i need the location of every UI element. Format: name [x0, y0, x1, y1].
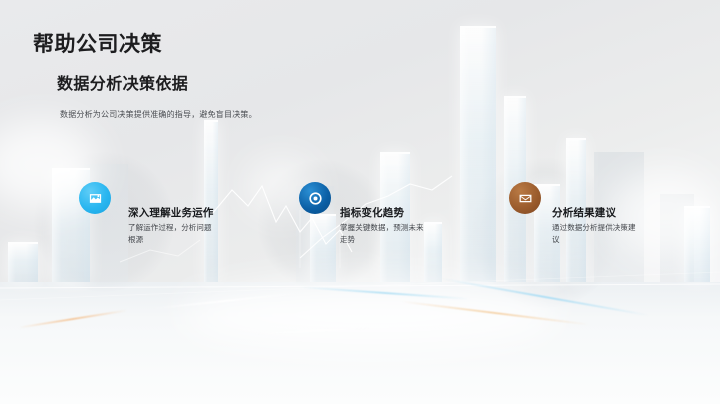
floor-streak-5	[441, 278, 648, 316]
envelope-icon[interactable]	[509, 182, 541, 214]
background-tower-6	[424, 222, 442, 282]
page-title: 帮助公司决策	[33, 28, 162, 58]
section-subtitle: 数据分析决策依据	[57, 70, 188, 94]
image-icon[interactable]	[79, 182, 111, 214]
feature-heading-3: 分析结果建议	[552, 205, 616, 220]
feature-heading-2: 指标变化趋势	[340, 205, 404, 220]
feature-description-1: 了解运作过程，分析问题根源	[128, 222, 212, 245]
background-tower-back-4	[660, 194, 694, 282]
floor-streak-2	[150, 292, 299, 310]
lead-paragraph: 数据分析为公司决策提供准确的指导，避免盲目决策。	[60, 109, 257, 120]
target-icon[interactable]	[299, 182, 331, 214]
feature-heading-1: 深入理解业务运作	[128, 205, 214, 220]
floor-streak-6	[250, 327, 370, 335]
background-tower-7	[460, 26, 496, 282]
background-tower-3	[204, 120, 218, 282]
feature-description-2: 掌握关键数据，预测未来走势	[340, 222, 424, 245]
background-tower-4	[310, 214, 336, 282]
horizon-floor	[0, 282, 720, 404]
glow-right	[610, 170, 720, 260]
presentation-slide: 帮助公司决策 数据分析决策依据 数据分析为公司决策提供准确的指导，避免盲目决策。…	[0, 0, 720, 404]
glow-floor	[180, 280, 560, 350]
background-tower-1	[8, 242, 38, 282]
feature-description-3: 通过数据分析提供决策建议	[552, 222, 636, 245]
floor-streak-1	[19, 309, 128, 328]
floor-streak-4	[401, 300, 590, 325]
floor-streak-3	[300, 286, 470, 300]
background-tower-11	[684, 206, 710, 282]
